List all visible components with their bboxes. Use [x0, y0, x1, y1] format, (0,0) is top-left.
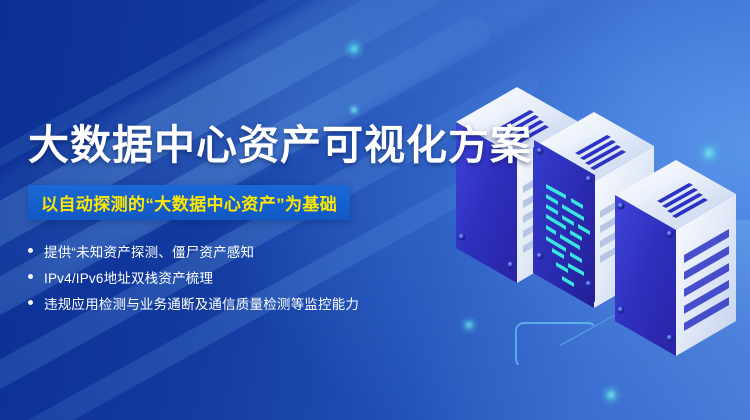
list-item-label: 违规应用检测与业务通断及通信质量检测等监控能力	[44, 293, 359, 313]
list-item-label: IPv4/IPv6地址双栈资产梳理	[44, 267, 213, 287]
bullet-dot-icon	[28, 300, 33, 305]
text-content: 大数据中心资产可视化方案 以自动探测的“大数据中心资产”为基础 提供“未知资产探…	[0, 0, 440, 420]
list-item: 违规应用检测与业务通断及通信质量检测等监控能力	[28, 290, 428, 315]
list-item-label: 提供“未知资产探测、僵尸资产感知	[44, 241, 254, 261]
banner-root: 大数据中心资产可视化方案 以自动探测的“大数据中心资产”为基础 提供“未知资产探…	[0, 0, 750, 420]
subtitle-text: 以自动探测的“大数据中心资产”为基础	[41, 190, 337, 215]
server-rack-front	[615, 160, 736, 356]
list-item: 提供“未知资产探测、僵尸资产感知	[28, 238, 428, 263]
subtitle-ribbon: 以自动探测的“大数据中心资产”为基础	[28, 185, 350, 220]
bullet-dot-icon	[28, 248, 33, 253]
bullet-dot-icon	[28, 274, 33, 279]
feature-list: 提供“未知资产探测、僵尸资产感知 IPv4/IPv6地址双栈资产梳理 违规应用检…	[28, 238, 428, 316]
list-item: IPv4/IPv6地址双栈资产梳理	[28, 264, 428, 289]
page-title: 大数据中心资产可视化方案	[28, 123, 532, 168]
